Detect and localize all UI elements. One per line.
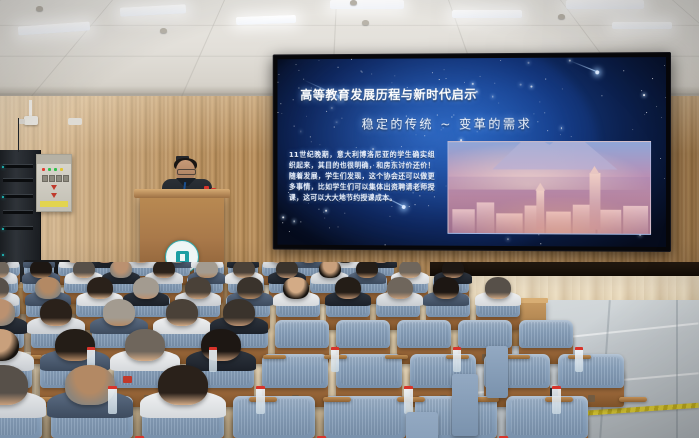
seat-armrest [619, 397, 647, 402]
auditorium-seat[interactable] [233, 396, 315, 438]
audience-member-head [335, 277, 361, 299]
panel-header [37, 155, 71, 164]
sprinkler-head [350, 0, 357, 5]
star [643, 94, 645, 96]
star [329, 227, 330, 228]
audience-member-head [237, 277, 263, 299]
star [531, 86, 533, 88]
ceiling-light [566, 0, 644, 9]
auditorium-seat[interactable] [397, 320, 451, 348]
star [300, 222, 301, 223]
star [342, 118, 343, 119]
star [562, 88, 563, 89]
star [319, 209, 320, 210]
audience-member-head [110, 262, 132, 278]
audience-member-head [399, 262, 421, 278]
ceiling-light [120, 4, 186, 16]
auditorium-seat[interactable] [519, 320, 573, 348]
star [444, 69, 445, 70]
row-end-panel [452, 374, 478, 436]
star [306, 116, 307, 117]
sprinkler-head [362, 20, 369, 25]
star [333, 127, 334, 128]
star [661, 117, 662, 118]
star [319, 144, 320, 145]
led-display-screen: 高等教育发展历程与新时代启示 稳定的传统 ~ 变革的需求 11世纪晚期，意大利博… [273, 52, 671, 252]
slide-body-text: 11世纪晚期，意大利博洛尼亚的学生确实组织起来，其目的也很明确，和房东讨价还价！… [289, 149, 435, 203]
star [296, 64, 297, 65]
audience-member-head [30, 262, 52, 278]
star [300, 130, 302, 132]
seat-number-plate [588, 395, 595, 402]
auditorium-seat[interactable] [558, 354, 624, 388]
status-led [48, 168, 51, 171]
audience-member-head [283, 277, 309, 299]
audience-member-head [87, 277, 113, 299]
water-bottle [552, 386, 561, 414]
seat-row-marker [123, 376, 132, 383]
audience-member-head [40, 299, 72, 326]
audience-member-head [433, 277, 459, 299]
wall-control-panel[interactable] [36, 154, 72, 212]
audience-member-head [442, 262, 464, 278]
down-arrow-icon [51, 185, 57, 190]
star [480, 76, 481, 77]
status-led [54, 168, 57, 171]
star [281, 103, 282, 104]
star [623, 70, 624, 71]
star [445, 185, 446, 186]
row-end-panel [486, 346, 508, 398]
row-end-panel [406, 412, 438, 438]
sprinkler-head [36, 6, 43, 11]
star [298, 87, 299, 88]
star [415, 135, 416, 136]
audience-member-head [223, 299, 255, 326]
star [293, 126, 294, 127]
star [656, 106, 657, 107]
audience-member-head [103, 299, 135, 326]
audience-member-head [166, 299, 198, 326]
podium-top-surface [134, 189, 230, 198]
slide-surface: 高等教育发展历程与新时代启示 稳定的传统 ~ 变革的需求 11世纪晚期，意大利博… [277, 57, 666, 247]
ceiling-light [330, 0, 404, 9]
star [445, 78, 446, 79]
star [338, 67, 339, 68]
star [540, 101, 541, 102]
ceiling-light [452, 10, 522, 18]
audience-member-head [356, 262, 378, 278]
star [498, 103, 499, 104]
star [561, 127, 563, 129]
star [424, 135, 425, 136]
star [293, 100, 294, 101]
status-led [42, 168, 45, 171]
slide-photo-bologna [448, 141, 652, 235]
audience-member-head [35, 277, 61, 299]
star [432, 72, 433, 73]
star [326, 111, 327, 112]
auditorium-seat[interactable] [336, 354, 402, 388]
star [664, 178, 665, 179]
star [464, 82, 465, 83]
audience-member-head [153, 262, 175, 278]
star [652, 78, 653, 79]
star [544, 112, 545, 113]
star [323, 212, 324, 213]
star [324, 218, 325, 219]
panel-button[interactable] [49, 175, 55, 182]
star [325, 210, 327, 212]
star [633, 129, 634, 130]
photo-warm-light [448, 197, 650, 234]
ceiling-light [612, 22, 672, 29]
star [279, 74, 280, 75]
star [665, 97, 666, 98]
water-bottle [209, 347, 217, 372]
star [344, 213, 345, 214]
audience-member-head [201, 329, 241, 361]
seat-armrest [385, 355, 408, 359]
star [547, 130, 548, 131]
star [278, 82, 279, 83]
star [492, 96, 494, 98]
ceiling-projector-icon [68, 118, 82, 125]
presenter-glasses [177, 169, 196, 175]
star [545, 79, 546, 80]
star [645, 114, 646, 115]
antenna [18, 118, 19, 152]
water-bottle [453, 347, 461, 372]
down-arrow-icon [51, 193, 57, 198]
star [528, 62, 530, 64]
star [389, 216, 390, 217]
star [337, 226, 338, 227]
star [385, 245, 386, 246]
water-bottle [331, 347, 339, 372]
status-led [60, 168, 63, 171]
star [539, 234, 540, 235]
auditorium-seat[interactable] [336, 320, 390, 348]
star [540, 244, 541, 245]
star [401, 146, 402, 147]
star [660, 158, 661, 159]
star [298, 70, 299, 71]
star [371, 74, 372, 75]
auditorium-seat[interactable] [506, 396, 588, 438]
slide-title: 高等教育发展历程与新时代启示 [300, 84, 477, 103]
audience-member-head [158, 365, 207, 405]
star [336, 121, 338, 123]
star [331, 107, 333, 109]
star [282, 222, 283, 223]
auditorium-seat[interactable] [275, 320, 329, 348]
ceiling-light [18, 21, 90, 35]
star [362, 72, 363, 73]
audience-member-head [485, 277, 511, 299]
audience-member-head [233, 262, 255, 278]
star [351, 59, 352, 60]
seat-armrest [323, 397, 351, 402]
star [293, 220, 295, 222]
star [500, 60, 501, 61]
star [520, 84, 522, 86]
auditorium-seat[interactable] [324, 396, 406, 438]
audience-member-head [73, 262, 95, 278]
star [415, 204, 416, 205]
audience-seating-area [0, 262, 699, 438]
star [278, 112, 279, 113]
audience-member-head [125, 329, 165, 361]
audience-member-head [276, 262, 298, 278]
sprinkler-head [160, 28, 167, 33]
sprinkler-head [558, 14, 565, 19]
star [310, 141, 311, 142]
panel-button[interactable] [63, 175, 69, 182]
security-camera-icon [24, 116, 38, 125]
ceiling-light [236, 15, 296, 25]
star [282, 217, 284, 219]
panel-label-strip [40, 201, 68, 207]
star [392, 206, 393, 207]
panel-button[interactable] [42, 175, 48, 182]
water-bottle [575, 347, 583, 372]
star [289, 231, 290, 232]
star [646, 112, 647, 113]
star [641, 90, 642, 91]
star [664, 65, 665, 66]
star [507, 238, 509, 240]
star [537, 121, 538, 122]
slide-subtitle: 稳定的传统 ~ 变革的需求 [362, 113, 533, 132]
star [602, 95, 603, 96]
star [281, 113, 282, 114]
star [439, 79, 440, 80]
audience-member-head [185, 277, 211, 299]
audience-member-head [133, 277, 159, 299]
water-bottle [404, 386, 413, 414]
star [560, 134, 561, 135]
star [533, 114, 534, 115]
water-bottle [108, 386, 117, 414]
audience-member-head [319, 262, 341, 278]
audience-member-head [387, 277, 413, 299]
audience-member-head [196, 262, 218, 278]
star [409, 206, 410, 207]
panel-button[interactable] [56, 175, 62, 182]
star [494, 83, 495, 84]
star [310, 136, 311, 137]
water-bottle [256, 386, 265, 414]
star [428, 206, 429, 207]
lecture-hall-scene: 高等教育发展历程与新时代启示 稳定的传统 ~ 变革的需求 11世纪晚期，意大利博… [0, 0, 699, 438]
seat-armrest [263, 355, 286, 359]
star [570, 136, 571, 137]
star [318, 60, 319, 61]
star [394, 76, 395, 77]
auditorium-seat[interactable] [262, 354, 328, 388]
auditorium-seat[interactable] [458, 320, 512, 348]
seat-armrest [507, 355, 530, 359]
